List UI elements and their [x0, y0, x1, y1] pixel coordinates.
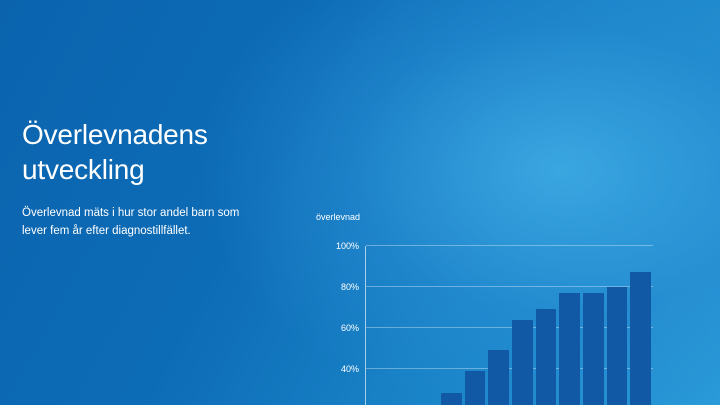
y-axis-tick-label: 80% [341, 282, 359, 292]
page-title: Överlevnadens utveckling [22, 118, 307, 187]
bar[interactable] [512, 320, 533, 405]
bar[interactable] [441, 393, 462, 405]
slide-canvas: Överlevnadens utveckling Överlevnad mäts… [0, 0, 720, 405]
bar[interactable] [559, 293, 580, 405]
bar[interactable] [465, 371, 486, 405]
page-subtitle-line-1: Överlevnad mäts i hur stor andel barn so… [22, 205, 307, 223]
y-axis-tick-label: 100% [336, 241, 359, 251]
y-axis-tick-label: 40% [341, 364, 359, 374]
bar[interactable] [536, 309, 557, 405]
y-axis-tick-label: 60% [341, 323, 359, 333]
left-text-panel: Överlevnadens utveckling Överlevnad mäts… [22, 118, 307, 241]
bar[interactable] [583, 293, 604, 405]
y-axis-title: överlevnad [316, 212, 360, 222]
bar[interactable] [607, 287, 628, 405]
plot-area: 0%20%40%60%80%100% 50-talet60-talet70-ta… [366, 246, 653, 405]
survival-bar-chart: överlevnad 0%20%40%60%80%100% 50-talet60… [306, 212, 706, 405]
bar-series [370, 246, 651, 405]
page-subtitle-line-2: lever fem år efter diagnostillfället. [22, 223, 307, 241]
page-title-line-2: utveckling [22, 153, 307, 188]
page-title-line-1: Överlevnadens [22, 118, 307, 153]
y-axis-line [365, 246, 366, 405]
bar[interactable] [488, 350, 509, 405]
bar[interactable] [630, 272, 651, 405]
page-subtitle: Överlevnad mäts i hur stor andel barn so… [22, 205, 307, 241]
